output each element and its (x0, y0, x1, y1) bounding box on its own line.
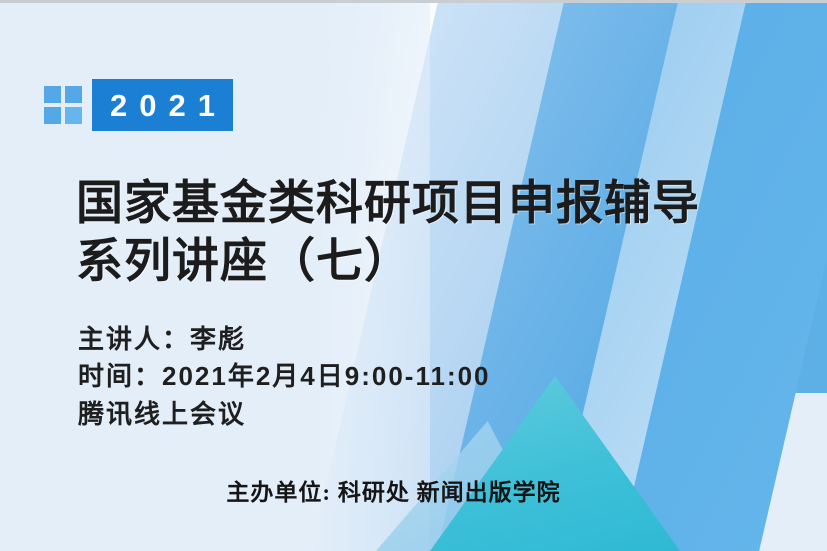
time-line: 时间：2021年2月4日9:00-11:00 (78, 358, 491, 395)
grid-square-3 (44, 107, 61, 124)
grid-square-2 (65, 86, 82, 103)
year-badge-row: 2021 (44, 79, 233, 131)
grid-square-1 (44, 86, 61, 103)
title-line-1: 国家基金类科研项目申报辅导 (76, 176, 700, 229)
event-details: 主讲人：李彪 时间：2021年2月4日9:00-11:00 腾讯线上会议 (78, 321, 491, 433)
page-title: 国家基金类科研项目申报辅导 系列讲座（七） (76, 174, 776, 290)
poster-content: 2021 国家基金类科研项目申报辅导 系列讲座（七） 主讲人：李彪 时间：202… (0, 3, 827, 551)
title-line-2: 系列讲座（七） (76, 232, 776, 290)
grid-square-4 (65, 107, 82, 124)
speaker-line: 主讲人：李彪 (78, 321, 491, 358)
grid-squares-icon (44, 86, 82, 124)
year-badge: 2021 (92, 79, 233, 131)
lecture-poster: 2021 国家基金类科研项目申报辅导 系列讲座（七） 主讲人：李彪 时间：202… (0, 0, 827, 551)
organizer-line: 主办单位: 科研处 新闻出版学院 (0, 473, 827, 507)
platform-line: 腾讯线上会议 (78, 396, 491, 433)
